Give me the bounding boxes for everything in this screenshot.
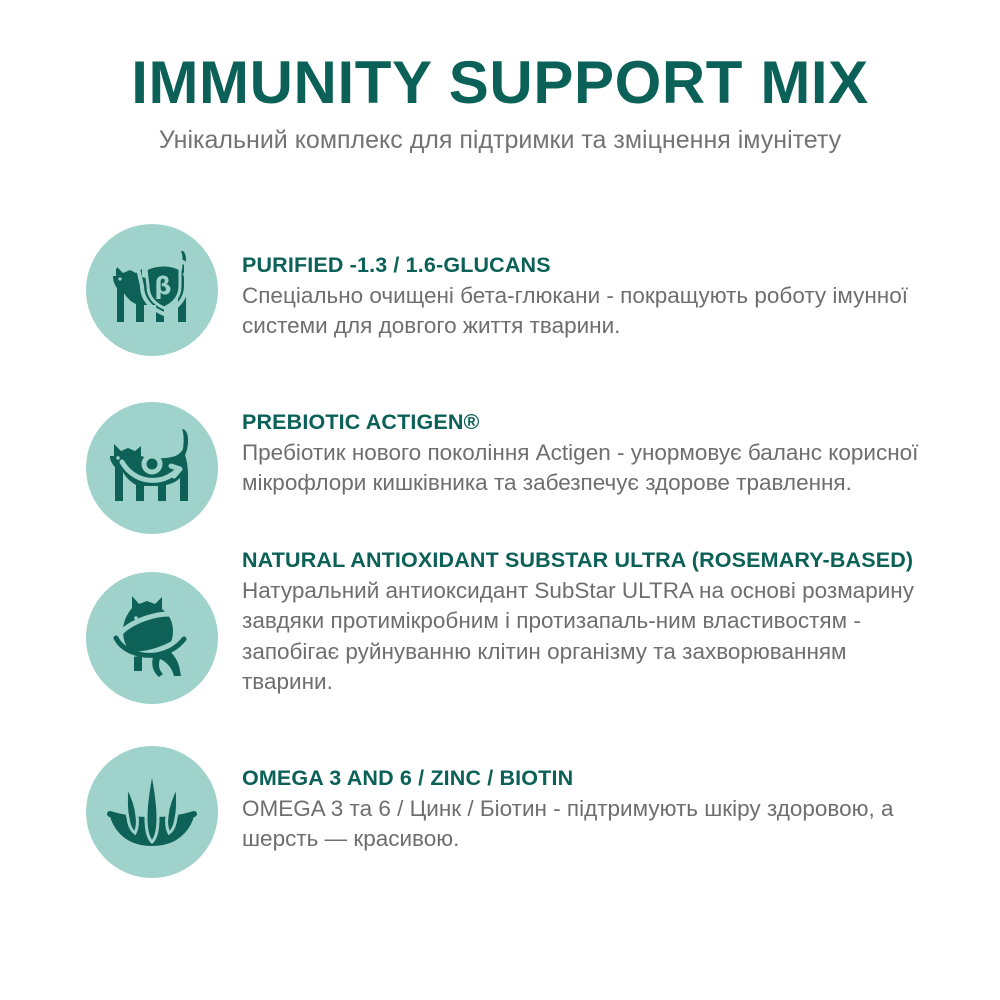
feature-title: PURIFIED -1.3 / 1.6-GLUCANS [242, 251, 942, 280]
page-title: IMMUNITY SUPPORT MIX [0, 52, 1000, 113]
feature-icon-wrap [86, 572, 218, 704]
feature-item-purified-glucans: β PURIFIED -1.3 / 1.6-GLUCANS Спеціально… [0, 224, 1000, 356]
feature-icon-wrap: β [86, 224, 218, 356]
hair-follicles-skin-icon [86, 746, 218, 878]
feature-list: β PURIFIED -1.3 / 1.6-GLUCANS Спеціально… [0, 208, 1000, 878]
cat-shield-beta-icon: β [86, 224, 218, 356]
feature-title: NATURAL ANTIOXIDANT SUBSTAR ULTRA (ROSEM… [242, 546, 942, 575]
feature-description: Пребіотик нового покоління Actigen - уно… [242, 438, 942, 499]
cat-protective-orbit-icon [86, 572, 218, 704]
feature-icon-wrap [86, 746, 218, 878]
feature-description: Спеціально очищені бета-глюкани - покращ… [242, 281, 942, 342]
page-subtitle: Унікальний комплекс для підтримки та змі… [0, 127, 1000, 155]
feature-item-omega-zinc-biotin: OMEGA 3 AND 6 / ZINC / BIOTIN OMEGA 3 та… [0, 746, 1000, 878]
feature-text: NATURAL ANTIOXIDANT SUBSTAR ULTRA (ROSEM… [218, 546, 1000, 698]
feature-text: PURIFIED -1.3 / 1.6-GLUCANS Спеціально о… [218, 224, 1000, 342]
beta-symbol-label: β [154, 272, 171, 300]
cat-digestion-arrow-icon [86, 402, 218, 534]
immunity-support-mix-poster: IMMUNITY SUPPORT MIX Унікальний комплекс… [0, 0, 1000, 1000]
feature-item-natural-antioxidant: NATURAL ANTIOXIDANT SUBSTAR ULTRA (ROSEM… [0, 572, 1000, 704]
feature-title: OMEGA 3 AND 6 / ZINC / BIOTIN [242, 764, 942, 793]
feature-item-prebiotic-actigen: PREBIOTIC ACTIGEN® Пребіотик нового поко… [0, 402, 1000, 534]
feature-icon-wrap [86, 402, 218, 534]
feature-description: Натуральний антиоксидант SubStar ULTRA н… [242, 576, 942, 698]
feature-description: OMEGA 3 та 6 / Цинк / Біотин - підтримую… [242, 794, 942, 855]
feature-text: PREBIOTIC ACTIGEN® Пребіотик нового поко… [218, 402, 1000, 499]
poster-header: IMMUNITY SUPPORT MIX Унікальний комплекс… [0, 52, 1000, 155]
feature-text: OMEGA 3 AND 6 / ZINC / BIOTIN OMEGA 3 та… [218, 746, 1000, 855]
feature-title: PREBIOTIC ACTIGEN® [242, 408, 942, 437]
